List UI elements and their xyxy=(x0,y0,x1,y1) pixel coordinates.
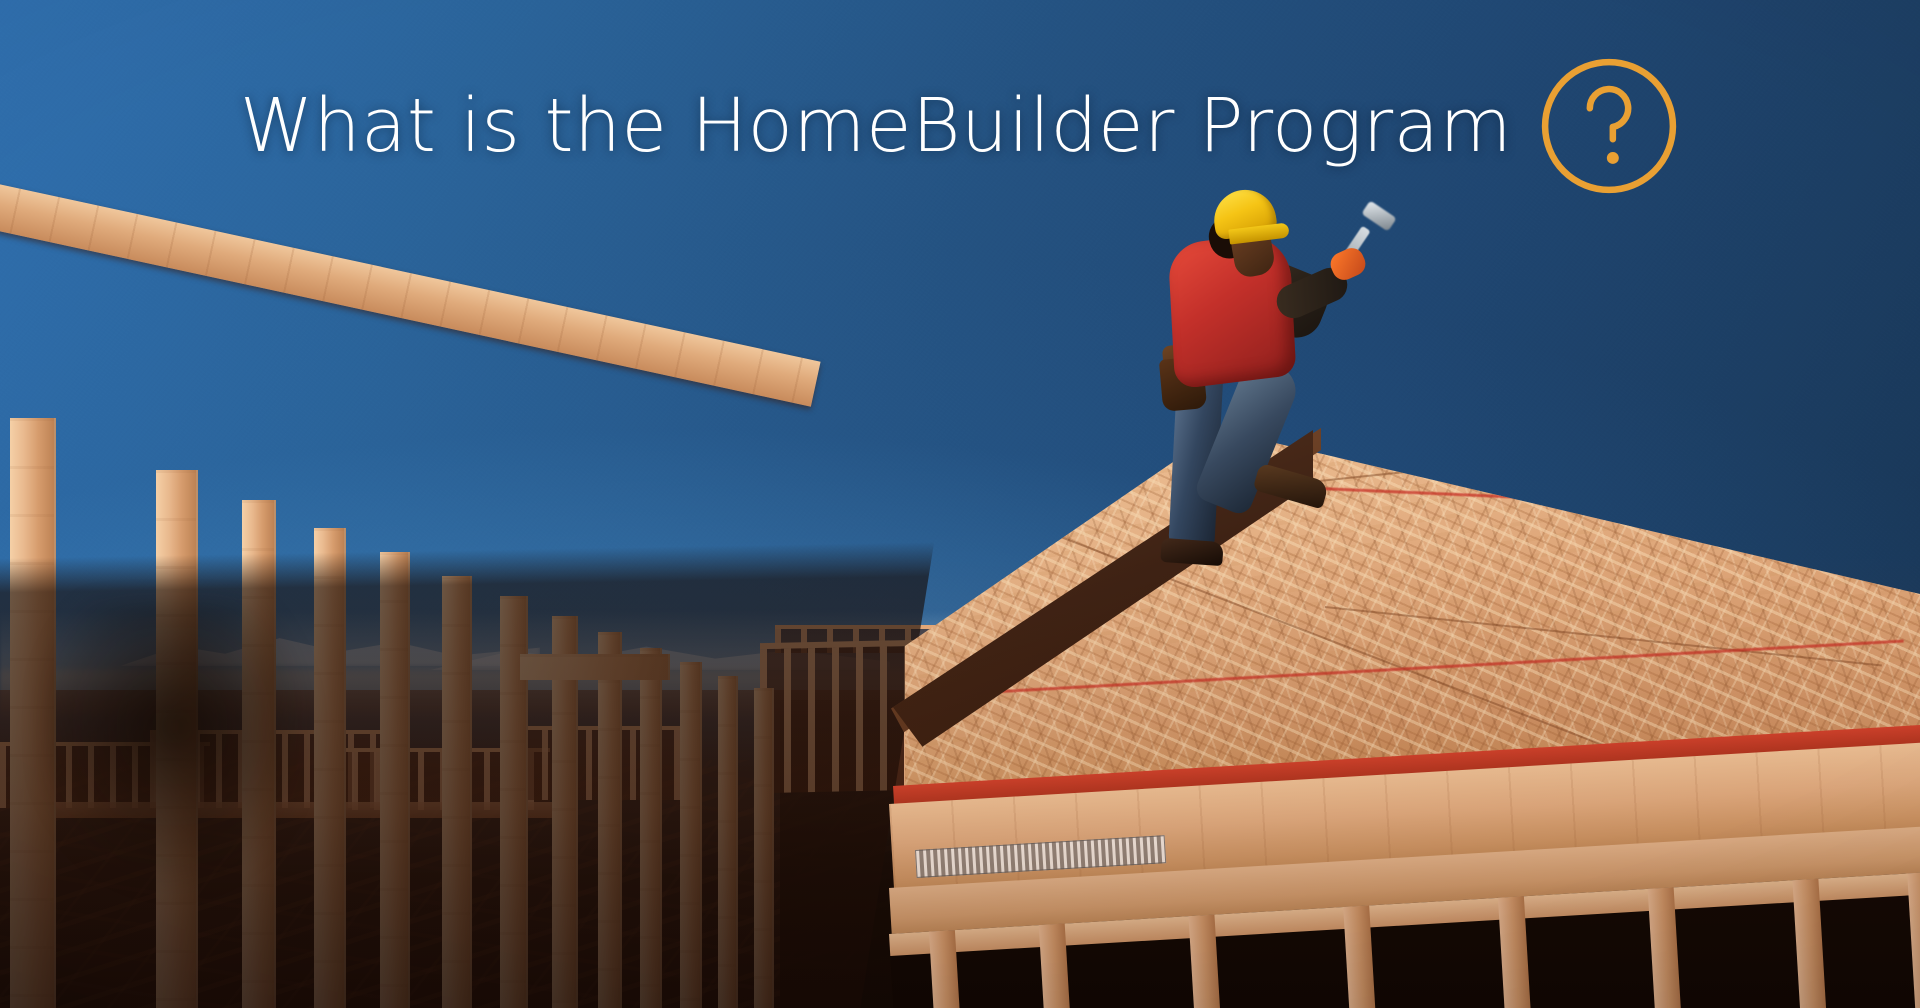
question-mark-circle-icon[interactable] xyxy=(1538,55,1680,197)
page-title: What is the HomeBuilder Program xyxy=(240,89,1512,163)
hero-banner: What is the HomeBuilder Program xyxy=(0,0,1920,1008)
